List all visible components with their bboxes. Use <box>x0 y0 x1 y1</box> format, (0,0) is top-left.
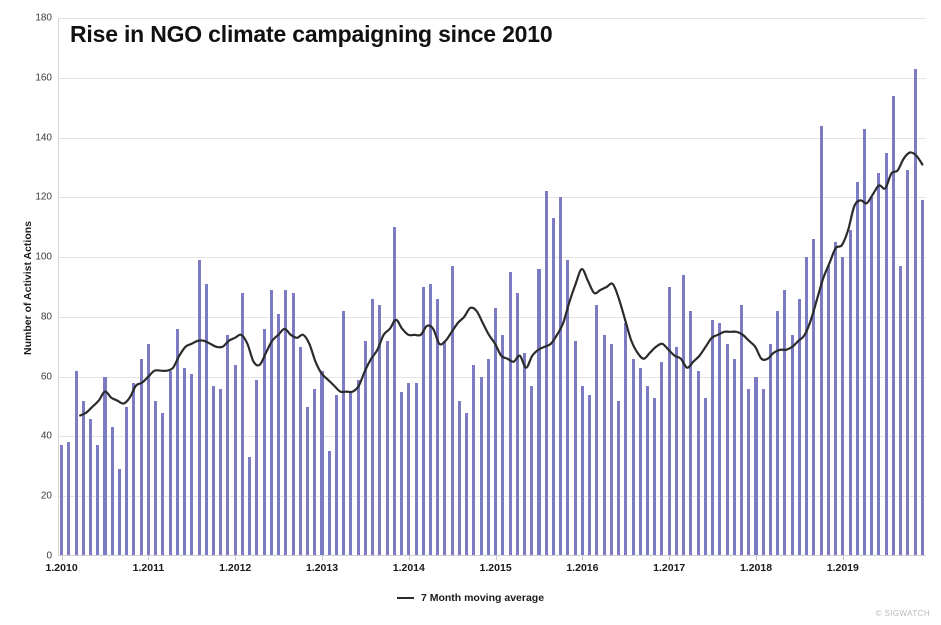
bar <box>335 395 338 556</box>
bar <box>668 287 671 556</box>
x-axis-ticks: 1.20101.20111.20121.20131.20141.20151.20… <box>58 560 926 582</box>
x-tick-mark <box>756 556 757 560</box>
bar <box>443 341 446 556</box>
bar <box>791 335 794 556</box>
bar <box>89 419 92 556</box>
bar <box>776 311 779 556</box>
bar <box>805 257 808 556</box>
bar <box>313 389 316 556</box>
bar <box>255 380 258 556</box>
bar <box>798 299 801 556</box>
bar <box>103 377 106 556</box>
y-tick-label: 100 <box>18 252 52 263</box>
bar <box>96 445 99 556</box>
bar <box>284 290 287 556</box>
x-tick-label: 1.2011 <box>133 562 165 574</box>
bar <box>263 329 266 556</box>
bar <box>487 359 490 556</box>
bar <box>393 227 396 556</box>
bar <box>357 380 360 556</box>
bar <box>407 383 410 556</box>
y-tick-label: 140 <box>18 132 52 143</box>
bar <box>588 395 591 556</box>
bar <box>516 293 519 556</box>
bar <box>429 284 432 556</box>
bar <box>147 344 150 556</box>
bar <box>422 287 425 556</box>
bar <box>914 69 917 556</box>
bar <box>400 392 403 556</box>
y-tick-label: 120 <box>18 192 52 203</box>
bar <box>877 173 880 556</box>
bar <box>169 371 172 556</box>
bar <box>465 413 468 556</box>
bar <box>718 323 721 556</box>
y-tick-label: 40 <box>18 431 52 442</box>
copyright-notice: © SIGWATCH <box>876 609 930 618</box>
bar <box>299 347 302 556</box>
x-tick-mark <box>582 556 583 560</box>
bar <box>660 362 663 556</box>
y-tick-label: 0 <box>18 551 52 562</box>
x-tick-mark <box>322 556 323 560</box>
bar <box>292 293 295 556</box>
bar <box>183 368 186 556</box>
bar <box>118 469 121 556</box>
bar <box>906 170 909 556</box>
bar <box>60 445 63 556</box>
bar <box>349 392 352 556</box>
x-tick-mark <box>843 556 844 560</box>
bar <box>67 442 70 556</box>
bar <box>899 266 902 556</box>
bar <box>827 266 830 556</box>
bar <box>863 129 866 556</box>
bar <box>415 383 418 556</box>
bar <box>436 299 439 556</box>
bar <box>552 218 555 556</box>
bar <box>740 305 743 556</box>
bar <box>176 329 179 556</box>
y-tick-label: 60 <box>18 371 52 382</box>
bar <box>834 242 837 556</box>
bar <box>682 275 685 556</box>
bar <box>241 293 244 556</box>
bar <box>111 427 114 556</box>
bar <box>697 371 700 556</box>
bar <box>523 353 526 556</box>
bar <box>205 284 208 556</box>
bar <box>603 335 606 556</box>
bar <box>595 305 598 556</box>
bar <box>769 344 772 556</box>
bar <box>675 347 678 556</box>
x-tick-label: 1.2018 <box>740 562 772 574</box>
bar <box>125 407 128 556</box>
bar <box>190 374 193 556</box>
bar <box>451 266 454 556</box>
bar <box>733 359 736 556</box>
bar <box>342 311 345 556</box>
bar <box>386 341 389 556</box>
x-tick-mark <box>669 556 670 560</box>
bar <box>212 386 215 556</box>
bar <box>856 182 859 556</box>
x-tick-mark <box>496 556 497 560</box>
x-tick-label: 1.2017 <box>653 562 685 574</box>
bar <box>277 314 280 556</box>
x-tick-label: 1.2010 <box>46 562 78 574</box>
bar <box>494 308 497 556</box>
bar <box>754 377 757 556</box>
bar <box>632 359 635 556</box>
bar <box>841 257 844 556</box>
bar <box>783 290 786 556</box>
bar <box>154 401 157 556</box>
bar <box>364 341 367 556</box>
bar <box>219 389 222 556</box>
x-tick-label: 1.2016 <box>566 562 598 574</box>
y-tick-label: 180 <box>18 13 52 24</box>
bar <box>892 96 895 556</box>
y-axis-ticks: 020406080100120140160180 <box>12 0 52 625</box>
bar <box>472 365 475 556</box>
chart-container: Rise in NGO climate campaigning since 20… <box>0 0 941 625</box>
bar <box>624 323 627 556</box>
bar <box>646 386 649 556</box>
bar <box>132 383 135 556</box>
bar <box>545 191 548 556</box>
bar <box>328 451 331 556</box>
bar <box>921 200 924 556</box>
bar <box>711 320 714 556</box>
y-tick-label: 20 <box>18 491 52 502</box>
bar <box>639 368 642 556</box>
bar <box>198 260 201 556</box>
bar <box>530 386 533 556</box>
x-tick-label: 1.2015 <box>480 562 512 574</box>
x-axis-line <box>58 555 926 556</box>
bar <box>704 398 707 556</box>
bar <box>161 413 164 556</box>
bar <box>501 335 504 556</box>
bar <box>566 260 569 556</box>
x-tick-label: 1.2014 <box>393 562 425 574</box>
plot-area <box>58 18 926 556</box>
bar <box>820 126 823 556</box>
bar <box>610 344 613 556</box>
bar <box>480 377 483 556</box>
bar <box>458 401 461 556</box>
bar <box>870 197 873 556</box>
bar <box>885 153 888 557</box>
bar <box>306 407 309 556</box>
bar <box>617 401 620 556</box>
x-tick-label: 1.2013 <box>306 562 338 574</box>
bar <box>75 371 78 556</box>
bar <box>812 239 815 556</box>
x-tick-mark <box>235 556 236 560</box>
x-tick-mark <box>148 556 149 560</box>
bar <box>581 386 584 556</box>
x-tick-mark <box>62 556 63 560</box>
bar <box>371 299 374 556</box>
legend-item-label: 7 Month moving average <box>421 592 544 604</box>
bar <box>234 365 237 556</box>
x-tick-label: 1.2012 <box>219 562 251 574</box>
bar <box>140 359 143 556</box>
bar <box>320 371 323 556</box>
bar <box>574 341 577 556</box>
bar <box>248 457 251 556</box>
bar <box>509 272 512 556</box>
bar <box>82 401 85 556</box>
y-tick-label: 160 <box>18 72 52 83</box>
bar-series <box>58 18 926 556</box>
legend-line-swatch <box>397 597 414 600</box>
bar <box>653 398 656 556</box>
bar <box>559 197 562 556</box>
bar <box>762 389 765 556</box>
y-tick-label: 80 <box>18 311 52 322</box>
bar <box>537 269 540 556</box>
x-tick-label: 1.2019 <box>827 562 859 574</box>
bar <box>378 305 381 556</box>
bar <box>849 230 852 556</box>
bar <box>726 344 729 556</box>
bar <box>747 389 750 556</box>
bar <box>689 311 692 556</box>
chart-legend: 7 Month moving average <box>0 592 941 604</box>
x-tick-mark <box>409 556 410 560</box>
bar <box>226 335 229 556</box>
bar <box>270 290 273 556</box>
